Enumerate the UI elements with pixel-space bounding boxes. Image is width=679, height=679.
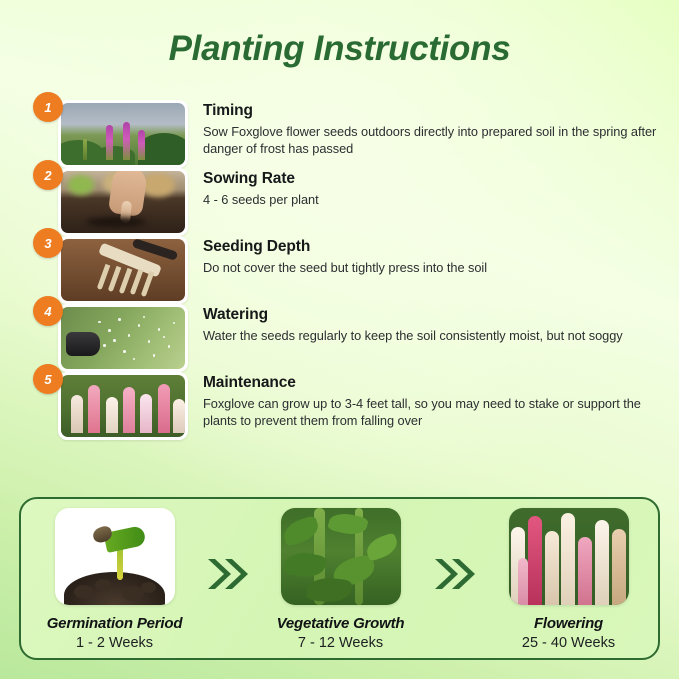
planting-instructions-infographic: Planting Instructions 1 — [0, 0, 679, 679]
rake-on-soil-illustration — [61, 239, 185, 301]
flowering-image — [509, 508, 629, 605]
step-item-4: 4 Watering Water the seeds regularly to … — [0, 299, 679, 367]
step-3-title: Seeding Depth — [203, 237, 658, 257]
step-2-title: Sowing Rate — [203, 169, 658, 189]
vegetative-duration: 7 - 12 Weeks — [253, 634, 428, 653]
step-3-photo — [61, 239, 185, 301]
step-5-description: Foxglove can grow up to 3-4 feet tall, s… — [203, 395, 658, 429]
step-5-title: Maintenance — [203, 373, 658, 393]
foxglove-spikes-illustration — [509, 508, 629, 605]
step-4-title: Watering — [203, 305, 658, 325]
step-4-photo — [61, 307, 185, 369]
germination-duration: 1 - 2 Weeks — [27, 634, 202, 653]
hose-watering-illustration — [61, 307, 185, 369]
step-5-text: Maintenance Foxglove can grow up to 3-4 … — [203, 373, 658, 429]
step-5-image-card: 5 — [58, 372, 188, 440]
vegetative-image — [281, 508, 401, 605]
vegetative-label: Vegetative Growth — [253, 614, 428, 633]
timeline-stage-germination: Germination Period 1 - 2 Weeks — [27, 508, 202, 653]
step-2-description: 4 - 6 seeds per plant — [203, 191, 658, 208]
step-item-3: 3 Seeding Depth Do not cover the seed bu… — [0, 231, 679, 299]
flowering-duration: 25 - 40 Weeks — [481, 634, 656, 653]
timeline-stage-vegetative: Vegetative Growth 7 - 12 Weeks — [253, 508, 428, 653]
step-3-text: Seeding Depth Do not cover the seed but … — [203, 237, 658, 276]
foxglove-field-illustration — [61, 103, 185, 165]
step-5-photo — [61, 375, 185, 437]
step-1-photo — [61, 103, 185, 165]
step-3-number-badge: 3 — [33, 228, 63, 258]
step-4-description: Water the seeds regularly to keep the so… — [203, 327, 658, 344]
step-2-text: Sowing Rate 4 - 6 seeds per plant — [203, 169, 658, 208]
page-title: Planting Instructions — [0, 27, 679, 71]
seedling-illustration — [55, 508, 175, 605]
flowering-label: Flowering — [481, 614, 656, 633]
germination-label: Germination Period — [27, 614, 202, 633]
step-1-description: Sow Foxglove flower seeds outdoors direc… — [203, 123, 658, 157]
step-2-image-card: 2 — [58, 168, 188, 236]
foxglove-bed-illustration — [61, 375, 185, 437]
step-2-photo — [61, 171, 185, 233]
step-5-number-badge: 5 — [33, 364, 63, 394]
step-2-number-badge: 2 — [33, 160, 63, 190]
step-1-text: Timing Sow Foxglove flower seeds outdoor… — [203, 101, 658, 157]
step-3-image-card: 3 — [58, 236, 188, 304]
step-1-title: Timing — [203, 101, 658, 121]
timeline-stage-flowering: Flowering 25 - 40 Weeks — [481, 508, 656, 653]
step-1-image-card: 1 — [58, 100, 188, 168]
germination-image — [55, 508, 175, 605]
step-item-1: 1 Timing Sow Foxglove flower seeds outdo… — [0, 95, 679, 163]
hand-sowing-illustration — [61, 171, 185, 233]
double-chevron-right-icon-2 — [431, 555, 477, 593]
step-4-number-badge: 4 — [33, 296, 63, 326]
step-1-number-badge: 1 — [33, 92, 63, 122]
step-item-5: 5 Maintenance Foxglove can grow up to 3-… — [0, 367, 679, 435]
steps-list: 1 Timing Sow Foxglove flower seeds outdo… — [0, 95, 679, 435]
leafy-plant-illustration — [281, 508, 401, 605]
step-3-description: Do not cover the seed but tightly press … — [203, 259, 658, 276]
growth-timeline-panel: Germination Period 1 - 2 Weeks V — [19, 497, 660, 660]
step-item-2: 2 Sowing Rate 4 - 6 seeds per plant — [0, 163, 679, 231]
double-chevron-right-icon-1 — [204, 555, 250, 593]
step-4-image-card: 4 — [58, 304, 188, 372]
step-4-text: Watering Water the seeds regularly to ke… — [203, 305, 658, 344]
